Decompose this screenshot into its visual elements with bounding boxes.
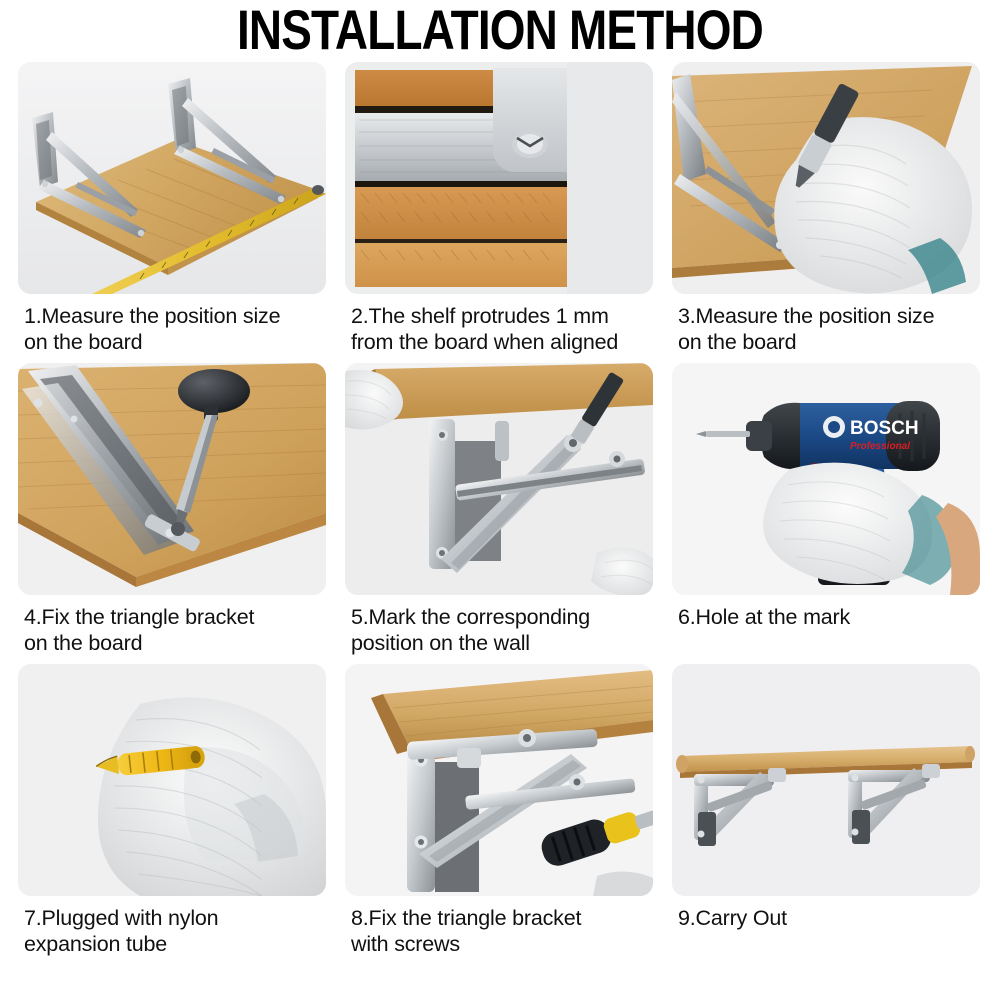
page-title: INSTALLATION METHOD <box>90 0 910 62</box>
step-card-4: 4.Fix the triangle bracket on the board <box>18 363 336 656</box>
step-card-3: 3.Measure the position size on the board <box>672 62 990 355</box>
illustration-anchor <box>18 664 326 896</box>
illustration-screwdriver-board <box>18 363 326 595</box>
illustration-drill: BOSCH Professional <box>672 363 980 595</box>
illustration-board-brackets-tape <box>18 62 326 294</box>
illustration-fix-screws <box>345 664 653 896</box>
step-caption-4: 4.Fix the triangle bracket on the board <box>24 604 336 656</box>
photo-nylon-anchor-into-wall <box>18 664 326 896</box>
photo-board-with-brackets-and-tape-measure <box>18 62 326 294</box>
step-card-5: 5.Mark the corresponding position on the… <box>345 363 663 656</box>
bosch-professional-text: Professional <box>850 441 910 452</box>
photo-marking-wall-position <box>345 363 653 595</box>
photo-finished-wall-shelf <box>672 664 980 896</box>
step-card-1: 1.Measure the position size on the board <box>18 62 336 355</box>
step-caption-7: 7.Plugged with nylon expansion tube <box>24 905 336 957</box>
step-card-9: 9.Carry Out <box>672 664 990 957</box>
step-caption-8: 8.Fix the triangle bracket with screws <box>351 905 663 957</box>
photo-gloved-hand-marking-board <box>672 62 980 294</box>
photo-fixing-bracket-with-screws <box>345 664 653 896</box>
bosch-brand-text: BOSCH <box>850 418 919 439</box>
photo-bracket-edge-closeup <box>345 62 653 294</box>
step-caption-3: 3.Measure the position size on the board <box>678 303 990 355</box>
step-caption-5: 5.Mark the corresponding position on the… <box>351 604 663 656</box>
photo-bosch-drill-in-gloved-hand: BOSCH Professional <box>672 363 980 595</box>
step-caption-6: 6.Hole at the mark <box>678 604 990 656</box>
step-card-6: BOSCH Professional <box>672 363 990 656</box>
step-caption-2: 2.The shelf protrudes 1 mm from the boar… <box>351 303 663 355</box>
step-caption-9: 9.Carry Out <box>678 905 990 957</box>
steps-grid: 1.Measure the position size on the board <box>18 62 986 957</box>
illustration-glove-marker-board <box>672 62 980 294</box>
illustration-finished <box>672 664 980 896</box>
step-card-7: 7.Plugged with nylon expansion tube <box>18 664 336 957</box>
installation-method-infographic: INSTALLATION METHOD <box>0 0 1000 1000</box>
step-card-2: 2.The shelf protrudes 1 mm from the boar… <box>345 62 663 355</box>
illustration-closeup-edge <box>345 62 653 294</box>
photo-screwdriver-fixing-bracket <box>18 363 326 595</box>
step-card-8: 8.Fix the triangle bracket with screws <box>345 664 663 957</box>
step-caption-1: 1.Measure the position size on the board <box>24 303 336 355</box>
illustration-mark-wall <box>345 363 653 595</box>
